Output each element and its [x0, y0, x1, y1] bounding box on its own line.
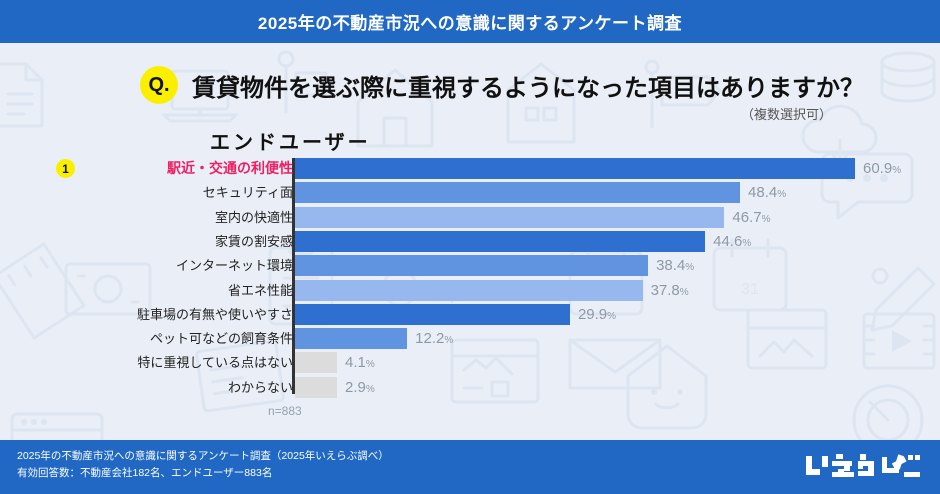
- bar-value-label: 46.7%: [732, 207, 770, 230]
- bar-value-label: 12.2%: [415, 328, 453, 351]
- bar-label: 特に重視している点はない: [83, 352, 293, 373]
- database-watermark-icon: [870, 48, 940, 120]
- footer-bar: 2025年の不動産市況への意識に関するアンケート調査（2025年いえらぶ調べ） …: [0, 440, 940, 494]
- bar-value-label: 4.1%: [345, 352, 375, 375]
- bar-label: 駅近・交通の利便性: [83, 158, 293, 179]
- bar-label: ペット可などの飼育条件: [83, 328, 293, 349]
- bar-label: セキュリティ面: [83, 182, 293, 203]
- bar-label: インターネット環境: [83, 255, 293, 276]
- bar-label: 駐車場の有無や使いやすさ: [83, 304, 293, 325]
- document-watermark-icon: [0, 60, 50, 130]
- bar-value-label: 37.8%: [651, 280, 689, 303]
- bar-label: わからない: [83, 377, 293, 398]
- bar-segment: [295, 182, 740, 203]
- bar-label: 家賃の割安感: [83, 231, 293, 252]
- footer-line-2: 有効回答数：不動産会社182名、エンドユーザー883名: [17, 465, 389, 482]
- bar-value-label: 38.4%: [656, 255, 694, 278]
- ielove-logo: [804, 452, 922, 482]
- footer-line-1: 2025年の不動産市況への意識に関するアンケート調査（2025年いえらぶ調べ）: [17, 448, 389, 465]
- bar-segment: [295, 280, 643, 301]
- bar-label: 室内の快適性: [83, 207, 293, 228]
- rank-badge: 1: [56, 159, 75, 178]
- bar-segment: [295, 255, 648, 276]
- page-title: 2025年の不動産市況への意識に関するアンケート調査: [258, 9, 682, 34]
- bar-value-label: 2.9%: [345, 377, 375, 400]
- question-row: Q. 賃貸物件を選ぶ際に重視するようになった項目はありますか？: [140, 66, 864, 104]
- footer-text: 2025年の不動産市況への意識に関するアンケート調査（2025年いえらぶ調べ） …: [17, 448, 389, 483]
- question-text: 賃貸物件を選ぶ際に重視するようになった項目はありますか？: [192, 68, 864, 103]
- header-bar: 2025年の不動産市況への意識に関するアンケート調査: [0, 0, 940, 43]
- bar-segment: [295, 352, 337, 373]
- bar-value-label: 60.9%: [863, 158, 901, 181]
- bar-value-label: 29.9%: [578, 304, 616, 327]
- bar-value-label: 44.6%: [713, 231, 751, 254]
- bar-segment: [295, 377, 337, 398]
- bar-segment: [295, 328, 407, 349]
- question-note: （複数選択可）: [741, 104, 832, 123]
- bar-label: 省エネ性能: [83, 280, 293, 301]
- bar-segment: [295, 207, 724, 228]
- chart-title: エンドユーザー: [210, 126, 371, 155]
- bar-segment: [295, 158, 855, 179]
- bar-value-label: 48.4%: [748, 182, 786, 205]
- question-badge: Q.: [140, 66, 178, 104]
- infographic-canvas: 31 31 2025年の不動産市況への意識に関するアンケート調査 Q. 賃貸物件…: [0, 0, 940, 494]
- sample-size-note: n=883: [268, 404, 302, 418]
- bar-segment: [295, 231, 705, 252]
- bar-segment: [295, 304, 570, 325]
- bar-chart: 駅近・交通の利便性160.9%セキュリティ面48.4%室内の快適性46.7%家賃…: [0, 158, 940, 403]
